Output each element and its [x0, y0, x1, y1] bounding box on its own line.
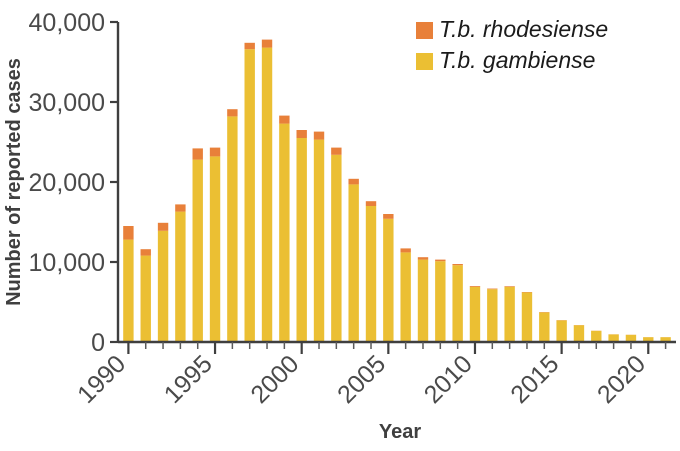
bar-segment-gambiense: [227, 116, 237, 342]
y-tick-label: 10,000: [29, 249, 105, 277]
bar-segment-gambiense: [452, 265, 462, 342]
bar-chart: 010,00020,00030,00040,000199019952000200…: [0, 0, 680, 451]
x-tick-label: 2020: [592, 350, 651, 409]
bar-segment-gambiense: [418, 260, 428, 342]
bar-segment-rhodesiense: [331, 148, 341, 155]
bar-segment-gambiense: [591, 331, 601, 342]
bar-segment-gambiense: [383, 219, 393, 342]
bar-segment-rhodesiense: [175, 204, 185, 211]
bar-segment-rhodesiense: [193, 148, 203, 159]
bar-segment-rhodesiense: [158, 223, 168, 231]
y-tick-label: 20,000: [29, 169, 105, 197]
bar-segment-rhodesiense: [296, 130, 306, 138]
bar-segment-rhodesiense: [123, 226, 133, 240]
bar-segment-rhodesiense: [279, 116, 289, 124]
x-axis-title: Year: [379, 421, 421, 443]
bar-segment-gambiense: [400, 252, 410, 342]
bar-segment-rhodesiense: [210, 148, 220, 157]
legend-swatch: [416, 53, 433, 70]
legend-label: T.b. rhodesiense: [439, 16, 608, 42]
bar-segment-gambiense: [504, 287, 514, 342]
bar-segment-gambiense: [279, 124, 289, 342]
bar-segment-rhodesiense: [314, 132, 324, 140]
bar-segment-gambiense: [539, 312, 549, 342]
bar-segment-rhodesiense: [435, 260, 445, 262]
bar-segment-gambiense: [158, 231, 168, 342]
legend-swatch: [416, 22, 433, 39]
x-tick-label: 2000: [245, 350, 304, 409]
bar-segment-gambiense: [175, 212, 185, 342]
bar-segment-gambiense: [296, 138, 306, 342]
bar-segment-rhodesiense: [400, 248, 410, 252]
bar-segment-rhodesiense: [504, 286, 514, 287]
bar-segment-gambiense: [435, 261, 445, 342]
bar-segment-gambiense: [470, 287, 480, 342]
bar-segment-gambiense: [123, 240, 133, 342]
bar-segment-gambiense: [556, 320, 566, 342]
bar-segment-gambiense: [193, 160, 203, 342]
y-tick-label: 30,000: [29, 89, 105, 117]
bar-segment-rhodesiense: [348, 179, 358, 185]
bar-segment-rhodesiense: [470, 286, 480, 287]
x-tick-label: 2005: [332, 350, 391, 409]
x-tick-label: 1995: [159, 350, 218, 409]
x-tick-label: 1990: [72, 350, 131, 409]
y-tick-label: 0: [91, 329, 105, 357]
bar-segment-rhodesiense: [141, 249, 151, 255]
bar-segment-rhodesiense: [245, 43, 255, 49]
bar-segment-rhodesiense: [452, 264, 462, 265]
bar-segment-rhodesiense: [487, 289, 497, 290]
legend-label: T.b. gambiense: [439, 47, 595, 73]
bar-segment-gambiense: [487, 289, 497, 342]
bar-segment-gambiense: [245, 49, 255, 342]
bar-segment-rhodesiense: [227, 109, 237, 116]
bar-segment-rhodesiense: [366, 201, 376, 206]
bar-segment-rhodesiense: [418, 257, 428, 259]
bar-segment-rhodesiense: [383, 214, 393, 219]
bar-segment-gambiense: [331, 155, 341, 342]
bar-segment-gambiense: [366, 206, 376, 342]
y-axis-title: Number of reported cases: [3, 58, 25, 306]
bar-segment-gambiense: [210, 156, 220, 342]
chart-canvas: 010,00020,00030,00040,000199019952000200…: [0, 0, 680, 451]
bar-segment-gambiense: [314, 140, 324, 342]
y-tick-label: 40,000: [29, 9, 105, 37]
bar-segment-gambiense: [262, 48, 272, 342]
bar-segment-gambiense: [141, 256, 151, 342]
bar-segment-rhodesiense: [262, 40, 272, 48]
bar-segment-gambiense: [348, 184, 358, 342]
x-tick-label: 2010: [419, 350, 478, 409]
bar-segment-gambiense: [522, 292, 532, 342]
bar-segment-gambiense: [574, 325, 584, 342]
x-tick-label: 2015: [505, 350, 564, 409]
